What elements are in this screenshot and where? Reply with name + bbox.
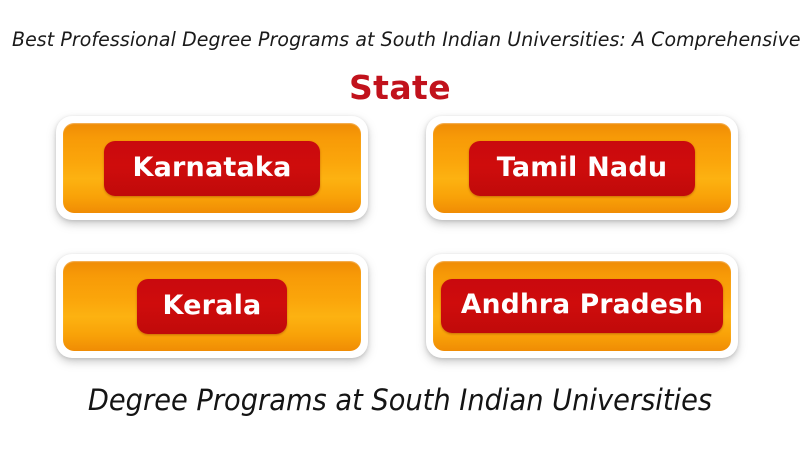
section-heading: State xyxy=(0,68,800,107)
state-label-badge: Andhra Pradesh xyxy=(441,279,723,334)
slide-canvas: Best Professional Degree Programs at Sou… xyxy=(0,0,800,450)
state-card-grid: Karnataka Tamil Nadu Kerala Andhra Prade… xyxy=(56,116,746,358)
footer-caption: Degree Programs at South Indian Universi… xyxy=(24,383,776,417)
state-label-badge: Kerala xyxy=(137,279,288,334)
state-label-badge: Karnataka xyxy=(104,141,319,196)
card-plate: Karnataka xyxy=(63,123,361,213)
card-plate: Andhra Pradesh xyxy=(433,261,731,351)
state-card-karnataka[interactable]: Karnataka xyxy=(56,116,368,220)
state-card-tamil-nadu[interactable]: Tamil Nadu xyxy=(426,116,738,220)
card-plate: Kerala xyxy=(63,261,361,351)
card-plate: Tamil Nadu xyxy=(433,123,731,213)
state-label-badge: Tamil Nadu xyxy=(469,141,696,196)
page-title: Best Professional Degree Programs at Sou… xyxy=(12,28,788,51)
state-card-kerala[interactable]: Kerala xyxy=(56,254,368,358)
state-card-andhra-pradesh[interactable]: Andhra Pradesh xyxy=(426,254,738,358)
